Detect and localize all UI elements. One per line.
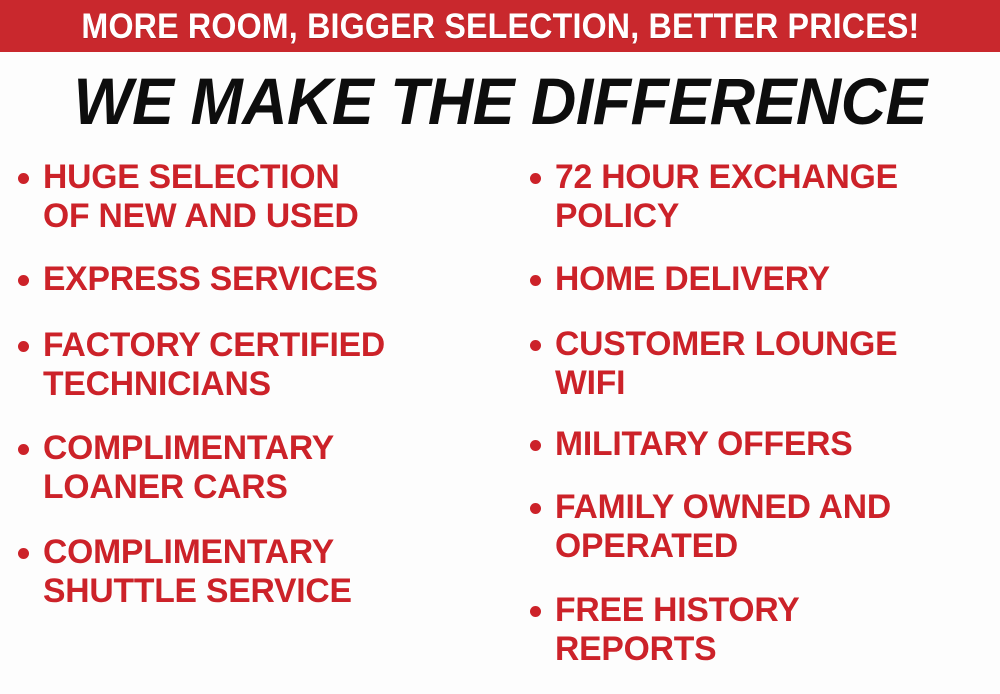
list-item: COMPLIMENTARY SHUTTLE SERVICE: [18, 533, 505, 611]
bullet-dot-icon: [18, 173, 29, 184]
headline-block: WE MAKE THE DIFFERENCE: [0, 68, 1000, 134]
list-item: FAMILY OWNED AND OPERATED: [530, 488, 1000, 566]
promo-poster: MORE ROOM, BIGGER SELECTION, BETTER PRIC…: [0, 0, 1000, 694]
list-item: HOME DELIVERY: [530, 260, 1000, 299]
list-item-label: MILITARY OFFERS: [555, 425, 996, 464]
list-item-label: FREE HISTORY REPORTS: [555, 591, 996, 669]
bullet-dot-icon: [530, 606, 541, 617]
bullet-dot-icon: [18, 548, 29, 559]
list-item: CUSTOMER LOUNGE WIFI: [530, 325, 1000, 403]
list-item: 72 HOUR EXCHANGE POLICY: [530, 158, 1000, 236]
bullet-dot-icon: [530, 340, 541, 351]
list-item: FACTORY CERTIFIED TECHNICIANS: [18, 326, 505, 404]
list-item-label: HOME DELIVERY: [555, 260, 996, 299]
bullet-dot-icon: [530, 173, 541, 184]
list-item-label: FACTORY CERTIFIED TECHNICIANS: [43, 326, 500, 404]
bullet-dot-icon: [530, 275, 541, 286]
list-item-label: COMPLIMENTARY SHUTTLE SERVICE: [43, 533, 500, 611]
list-item: MILITARY OFFERS: [530, 425, 1000, 464]
bullet-dot-icon: [530, 503, 541, 514]
list-item: COMPLIMENTARY LOANER CARS: [18, 429, 505, 507]
benefits-column-left: HUGE SELECTION OF NEW AND USED EXPRESS S…: [0, 158, 505, 694]
list-item: EXPRESS SERVICES: [18, 260, 505, 299]
bullet-dot-icon: [18, 275, 29, 286]
list-item-label: COMPLIMENTARY LOANER CARS: [43, 429, 500, 507]
list-item-label: HUGE SELECTION OF NEW AND USED: [43, 158, 500, 236]
bullet-dot-icon: [18, 341, 29, 352]
bullet-dot-icon: [530, 440, 541, 451]
list-item-label: FAMILY OWNED AND OPERATED: [555, 488, 996, 566]
top-banner: MORE ROOM, BIGGER SELECTION, BETTER PRIC…: [0, 0, 1000, 52]
list-item-label: CUSTOMER LOUNGE WIFI: [555, 325, 996, 403]
bullet-dot-icon: [18, 444, 29, 455]
page-title: WE MAKE THE DIFFERENCE: [73, 68, 926, 134]
benefits-columns: HUGE SELECTION OF NEW AND USED EXPRESS S…: [0, 158, 1000, 694]
list-item-label: 72 HOUR EXCHANGE POLICY: [555, 158, 996, 236]
banner-headline: MORE ROOM, BIGGER SELECTION, BETTER PRIC…: [81, 9, 919, 44]
list-item-label: EXPRESS SERVICES: [43, 260, 500, 299]
benefits-column-right: 72 HOUR EXCHANGE POLICY HOME DELIVERY CU…: [505, 158, 1000, 694]
list-item: HUGE SELECTION OF NEW AND USED: [18, 158, 505, 236]
list-item: FREE HISTORY REPORTS: [530, 591, 1000, 669]
